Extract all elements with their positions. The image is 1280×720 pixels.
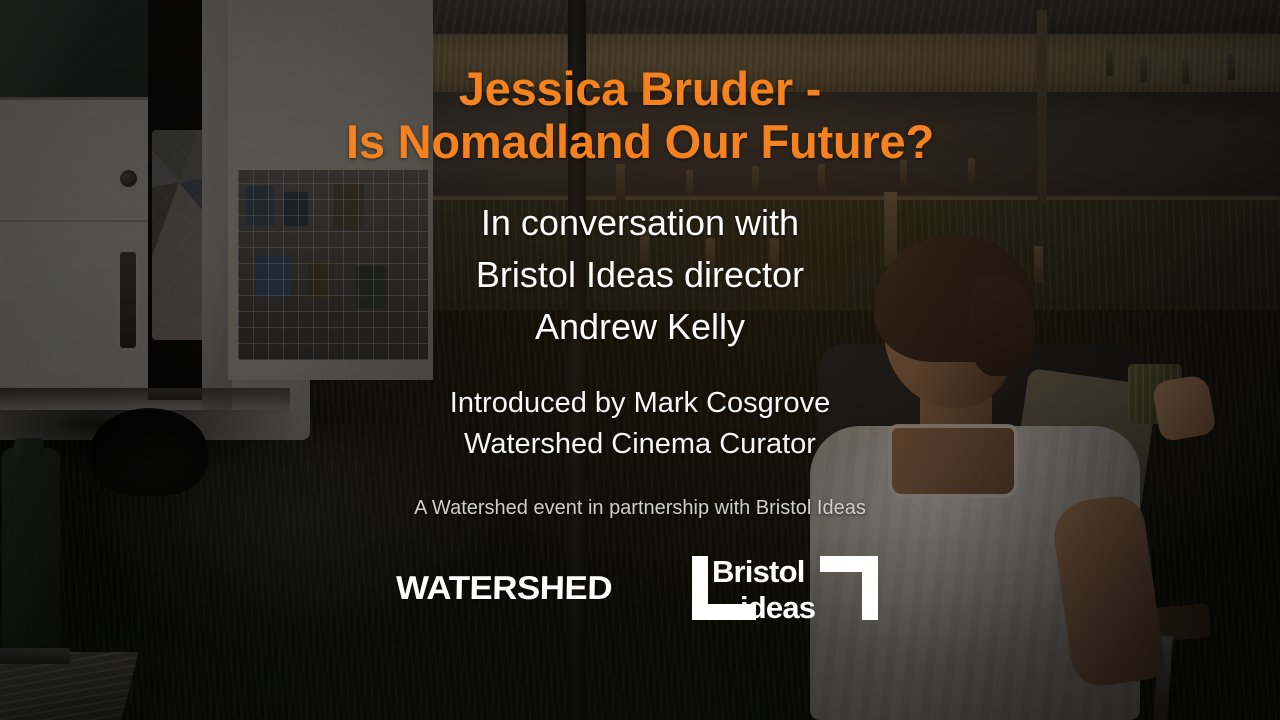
logo-row: WATERSHED Bristol ideas: [402, 548, 878, 628]
introducer-role: Watershed Cinema Curator: [450, 424, 830, 465]
event-subtitle: In conversation with Bristol Ideas direc…: [476, 197, 804, 352]
video-title-card: Jessica Bruder - Is Nomadland Our Future…: [0, 0, 1280, 720]
bracket-right-head: [820, 556, 878, 572]
partnership-note: A Watershed event in partnership with Br…: [414, 497, 866, 520]
introducer-name: Introduced by Mark Cosgrove: [450, 383, 830, 424]
event-title-line-2: Is Nomadland Our Future?: [346, 115, 934, 168]
watershed-logo: WATERSHED: [396, 569, 613, 607]
event-introducer: Introduced by Mark Cosgrove Watershed Ci…: [450, 383, 830, 465]
event-title: Jessica Bruder - Is Nomadland Our Future…: [346, 62, 934, 168]
text-overlay: Jessica Bruder - Is Nomadland Our Future…: [0, 0, 1280, 720]
event-subtitle-line-2: Bristol Ideas director: [476, 249, 804, 301]
bristol-ideas-word-2: ideas: [740, 592, 815, 623]
event-subtitle-line-1: In conversation with: [476, 197, 804, 249]
event-title-line-1: Jessica Bruder -: [346, 62, 934, 115]
event-subtitle-line-3: Andrew Kelly: [476, 301, 804, 353]
bristol-ideas-logo: Bristol ideas: [692, 548, 878, 628]
bristol-ideas-word-1: Bristol: [712, 556, 805, 587]
